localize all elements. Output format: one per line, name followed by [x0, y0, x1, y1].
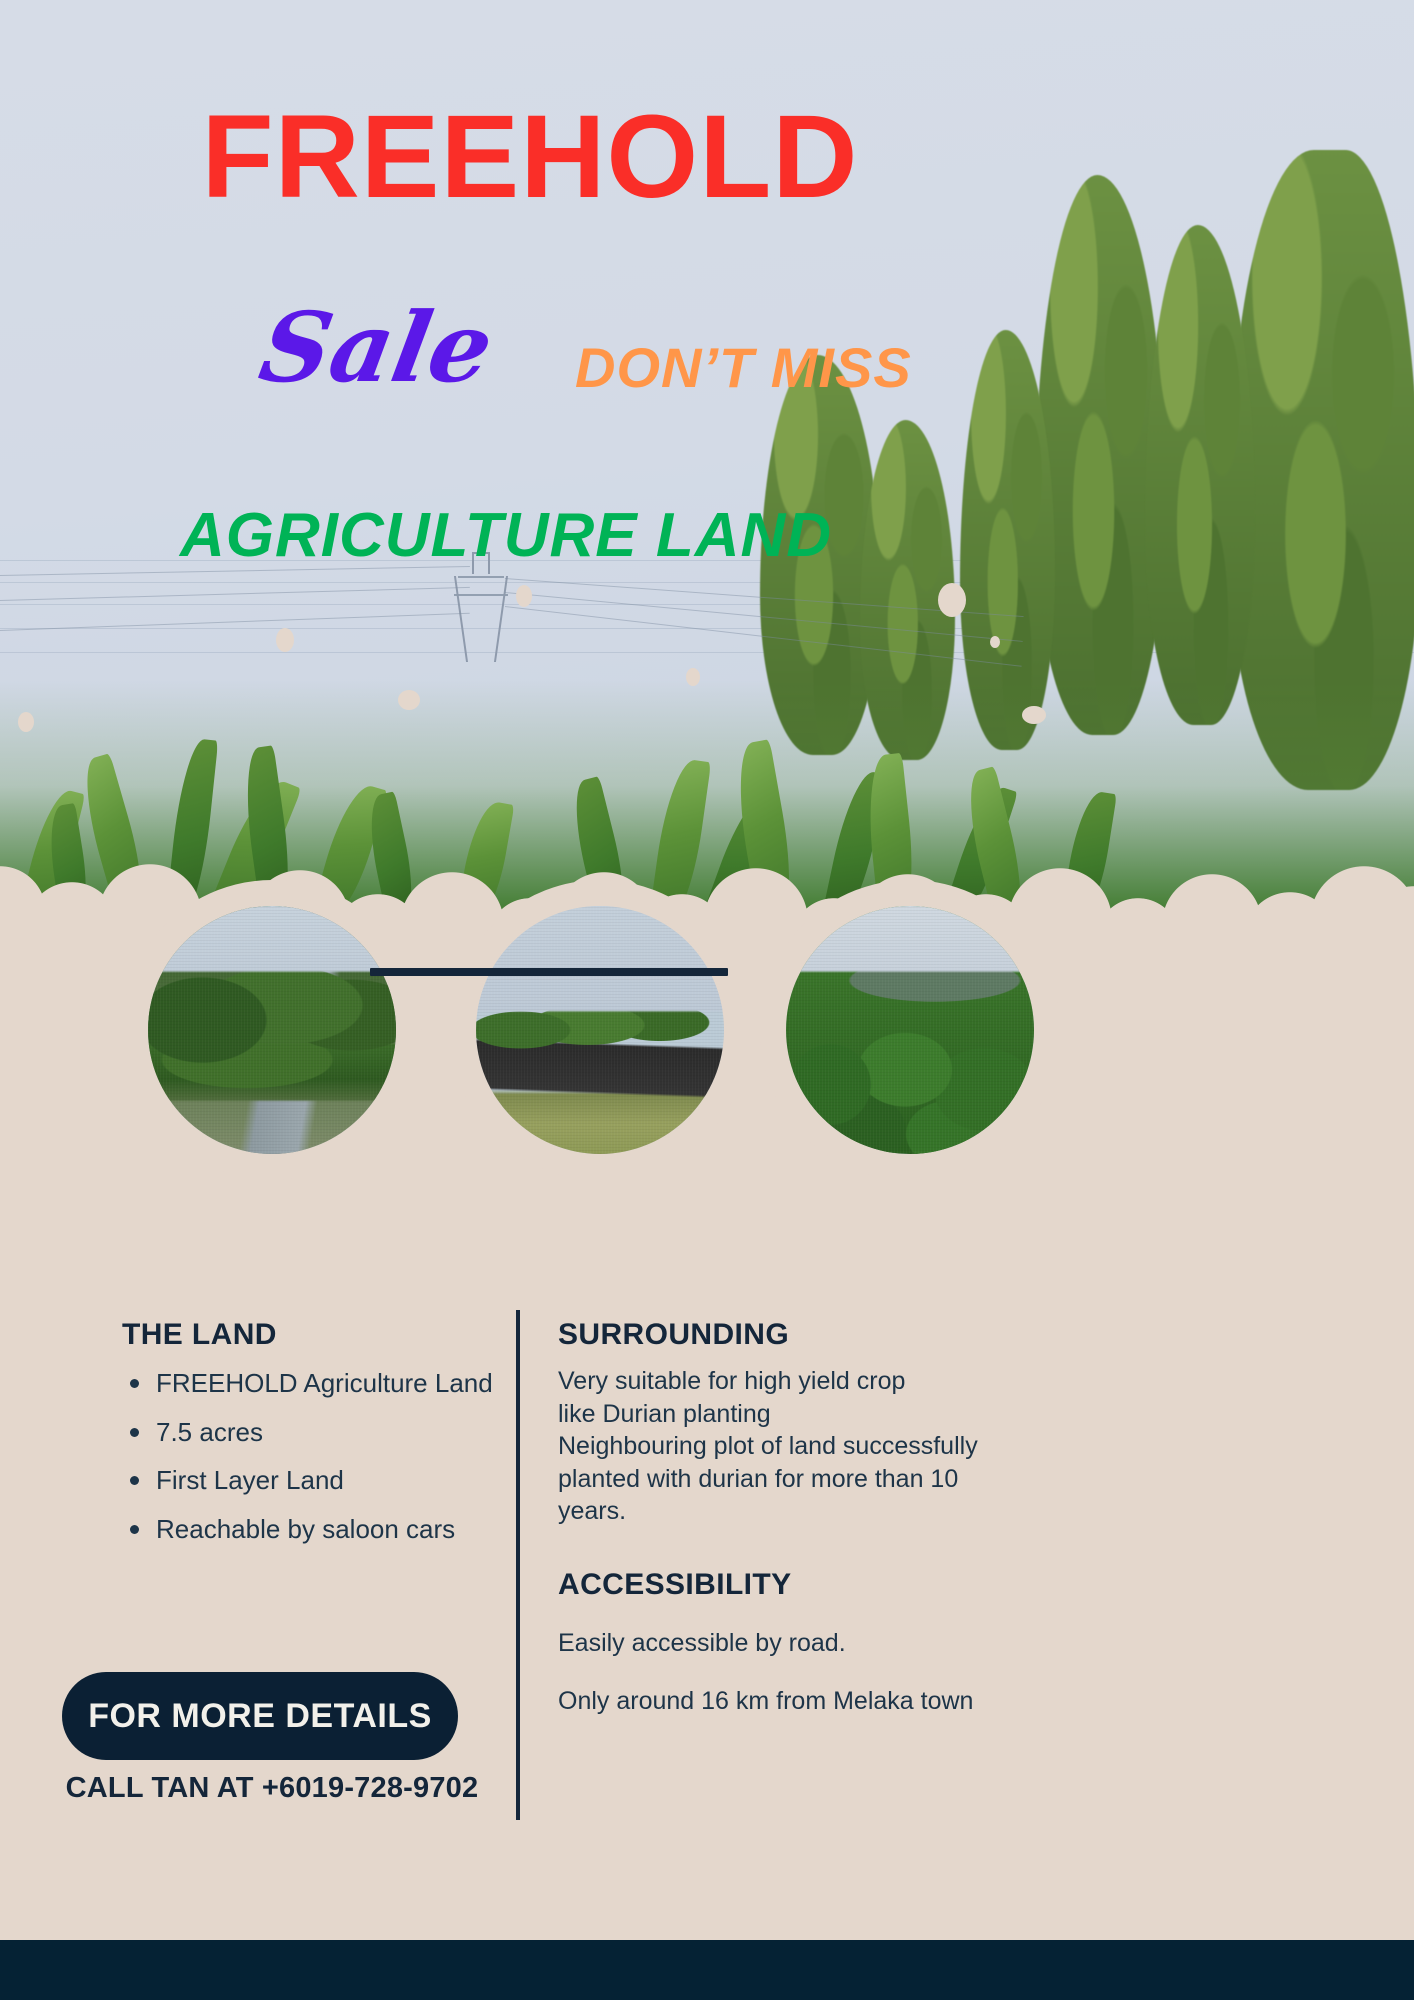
gallery-photo-2 [450, 880, 750, 1180]
for-more-details-label: FOR MORE DETAILS [88, 1697, 432, 1736]
headline-freehold: FREEHOLD [0, 98, 1060, 216]
headline-agriculture-land: AGRICULTURE LAND [180, 505, 832, 567]
gallery-photo-1 [122, 880, 422, 1180]
accessibility-heading: ACCESSIBILITY [558, 1568, 998, 1601]
the-land-bullet-list: FREEHOLD Agriculture Land 7.5 acres Firs… [122, 1367, 522, 1545]
accessibility-line-1: Easily accessible by road. [558, 1627, 998, 1660]
footer-bar [0, 1940, 1414, 2000]
surrounding-heading: SURROUNDING [558, 1318, 998, 1351]
poster-canvas: FREEHOLD Sale DON’T MISS AGRICULTURE LAN… [0, 0, 1414, 2000]
list-item: 7.5 acres [122, 1416, 522, 1449]
accessibility-line-2: Only around 16 km from Melaka town [558, 1685, 998, 1718]
the-land-section: THE LAND FREEHOLD Agriculture Land 7.5 a… [122, 1318, 522, 1561]
gallery-photo-3 [760, 880, 1060, 1180]
contact-phone-line[interactable]: CALL TAN AT +6019-728-9702 [62, 1772, 482, 1805]
list-item: Reachable by saloon cars [122, 1513, 522, 1546]
list-item: FREEHOLD Agriculture Land [122, 1367, 522, 1400]
headline-dont-miss: DON’T MISS [575, 340, 912, 396]
surrounding-body: Very suitable for high yield crop like D… [558, 1365, 998, 1528]
the-land-heading: THE LAND [122, 1318, 522, 1351]
for-more-details-button[interactable]: FOR MORE DETAILS [62, 1672, 458, 1760]
section-divider-bar [370, 968, 728, 976]
headline-script-sale: Sale [254, 300, 500, 396]
list-item: First Layer Land [122, 1464, 522, 1497]
details-section: SURROUNDING Very suitable for high yield… [558, 1318, 998, 1718]
background-tree-icon [1145, 225, 1255, 725]
